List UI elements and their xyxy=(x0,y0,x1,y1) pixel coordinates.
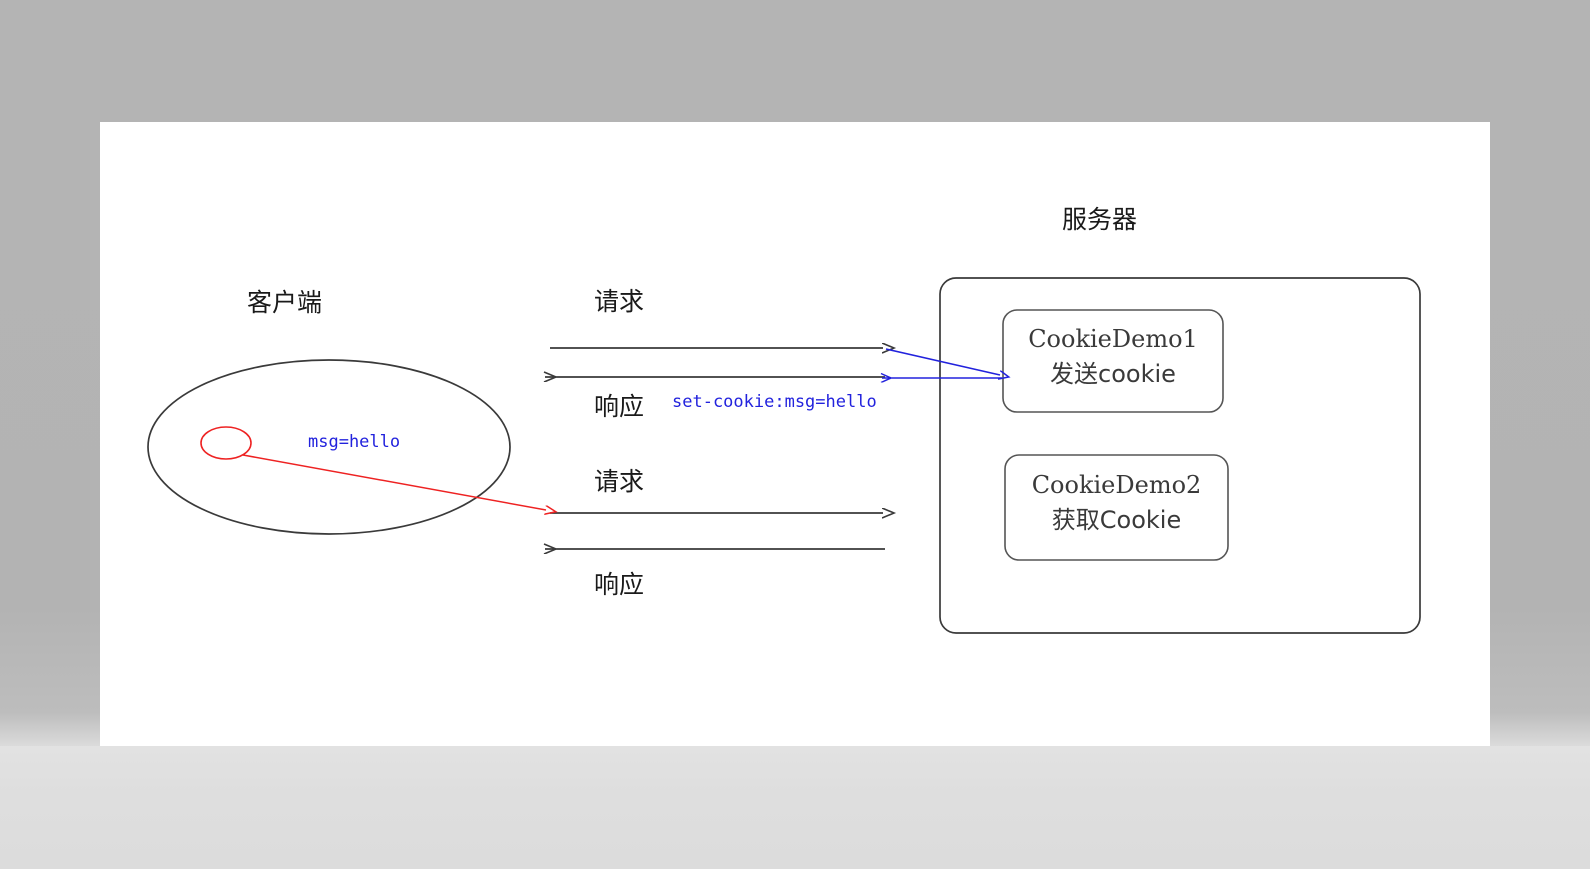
flow-label-response-1: 响应 xyxy=(594,394,644,419)
client-cookie-value: msg=hello xyxy=(308,434,400,451)
cookie-demo-2-name: CookieDemo2 xyxy=(1005,468,1228,503)
flow-label-response-2: 响应 xyxy=(594,572,644,597)
server-title: 服务器 xyxy=(1062,207,1137,232)
slide-canvas: 客户端 服务器 msg=hello 请求 响应 set-cookie:msg=h… xyxy=(100,122,1490,746)
cookie-demo-1-label: CookieDemo1 发送cookie xyxy=(1003,322,1223,392)
flow-label-request-1: 请求 xyxy=(594,289,644,314)
presentation-backdrop: 客户端 服务器 msg=hello 请求 响应 set-cookie:msg=h… xyxy=(0,0,1590,869)
set-cookie-annotation: set-cookie:msg=hello xyxy=(672,394,877,411)
cookie-highlight-ellipse-icon xyxy=(201,427,251,459)
client-title: 客户端 xyxy=(247,290,322,315)
cookie-demo-1-action: 发送cookie xyxy=(1003,357,1223,392)
cookie-demo-1-name: CookieDemo1 xyxy=(1003,322,1223,357)
backdrop-floor xyxy=(0,746,1590,869)
cookie-callout-arrow-icon xyxy=(243,455,546,510)
cookie-demo-2-label: CookieDemo2 获取Cookie xyxy=(1005,468,1228,538)
cookie-demo-2-action: 获取Cookie xyxy=(1005,503,1228,538)
flow-label-request-2: 请求 xyxy=(594,469,644,494)
blue-request-connector-arrow xyxy=(886,349,1000,375)
